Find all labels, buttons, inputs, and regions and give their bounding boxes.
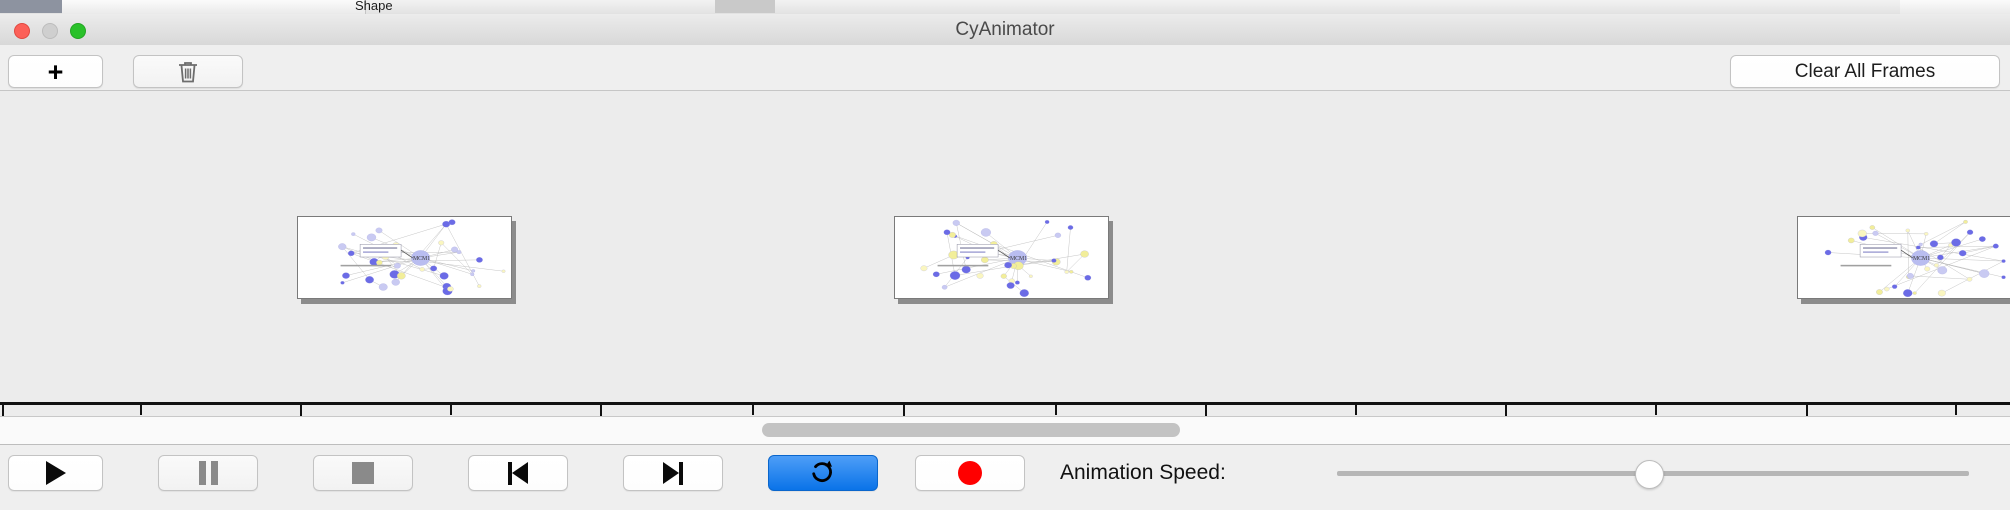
animation-speed-slider-thumb[interactable]: [1635, 460, 1664, 489]
stop-icon: [352, 462, 374, 484]
frame-thumbnail-3[interactable]: MCM1: [1797, 216, 2010, 299]
background-window-text: Shape: [355, 0, 393, 13]
play-button[interactable]: [8, 455, 103, 491]
axis-tick-minor: [140, 405, 142, 415]
axis-tick-minor: [1355, 405, 1357, 415]
axis-tick-minor: [1055, 405, 1057, 415]
axis-tick-minor: [1955, 405, 1957, 415]
pause-button[interactable]: [158, 455, 258, 491]
svg-text:MCM1: MCM1: [413, 256, 430, 262]
frame-preview: MCM1: [297, 216, 512, 299]
background-tab: [132, 0, 181, 14]
axis-tick-major: [300, 405, 302, 417]
step-forward-button[interactable]: [623, 455, 723, 491]
window-titlebar: CyAnimator: [0, 14, 2010, 46]
record-icon: [958, 461, 982, 485]
add-frame-button[interactable]: +: [8, 55, 103, 88]
playback-controls: Animation Speed:: [0, 445, 2010, 510]
loop-button[interactable]: [768, 455, 878, 491]
axis-tick-minor: [752, 405, 754, 415]
stop-button[interactable]: [313, 455, 413, 491]
axis-tick-major: [2, 405, 4, 417]
pause-icon: [199, 461, 218, 485]
clear-all-frames-button[interactable]: Clear All Frames: [1730, 55, 2000, 88]
window-title: CyAnimator: [0, 14, 2010, 45]
play-icon: [46, 461, 66, 485]
timeline-panel[interactable]: MCM1MCM1MCM1 12131415161718 Seconds: [0, 91, 2010, 417]
axis-tick-major: [1505, 405, 1507, 417]
timeline-scrollbar[interactable]: [0, 417, 2010, 445]
loop-icon: [810, 458, 836, 489]
skip-back-icon: [508, 462, 528, 485]
frame-thumbnail-2[interactable]: MCM1: [894, 216, 1109, 299]
toolbar: + Clear All Frames: [0, 45, 2010, 91]
axis-tick-major: [903, 405, 905, 417]
axis-tick-major: [1806, 405, 1808, 417]
background-tab: [1900, 0, 1956, 14]
background-window-strip: Shape: [0, 0, 2010, 15]
axis-tick-minor: [450, 405, 452, 415]
background-tab: [62, 0, 133, 14]
background-tab: [180, 0, 246, 14]
scrollbar-thumb[interactable]: [762, 423, 1180, 437]
step-back-button[interactable]: [468, 455, 568, 491]
background-window-control: [715, 0, 775, 13]
record-button[interactable]: [915, 455, 1025, 491]
animation-speed-label: Animation Speed:: [1060, 455, 1226, 491]
background-tab: [1955, 0, 2010, 14]
svg-text:MCM1: MCM1: [1913, 256, 1930, 262]
skip-forward-icon: [663, 462, 683, 485]
frame-thumbnail-1[interactable]: MCM1: [297, 216, 512, 299]
svg-text:MCM1: MCM1: [1010, 256, 1027, 262]
axis-tick-major: [600, 405, 602, 417]
clear-all-frames-label: Clear All Frames: [1795, 61, 1935, 83]
frame-preview: MCM1: [1797, 216, 2010, 299]
network-thumbnail: MCM1: [895, 217, 1108, 298]
delete-frame-button[interactable]: [133, 55, 243, 88]
cyanimator-window: Shape CyAnimator + Clear All Frames MCM1: [0, 0, 2010, 510]
axis-tick-major: [1205, 405, 1207, 417]
background-window-titlebar: [0, 0, 62, 13]
network-thumbnail: MCM1: [298, 217, 511, 298]
axis-tick-minor: [1655, 405, 1657, 415]
network-thumbnail: MCM1: [1798, 217, 2010, 298]
frame-preview: MCM1: [894, 216, 1109, 299]
background-tab: [245, 0, 306, 14]
trash-icon: [177, 60, 199, 84]
